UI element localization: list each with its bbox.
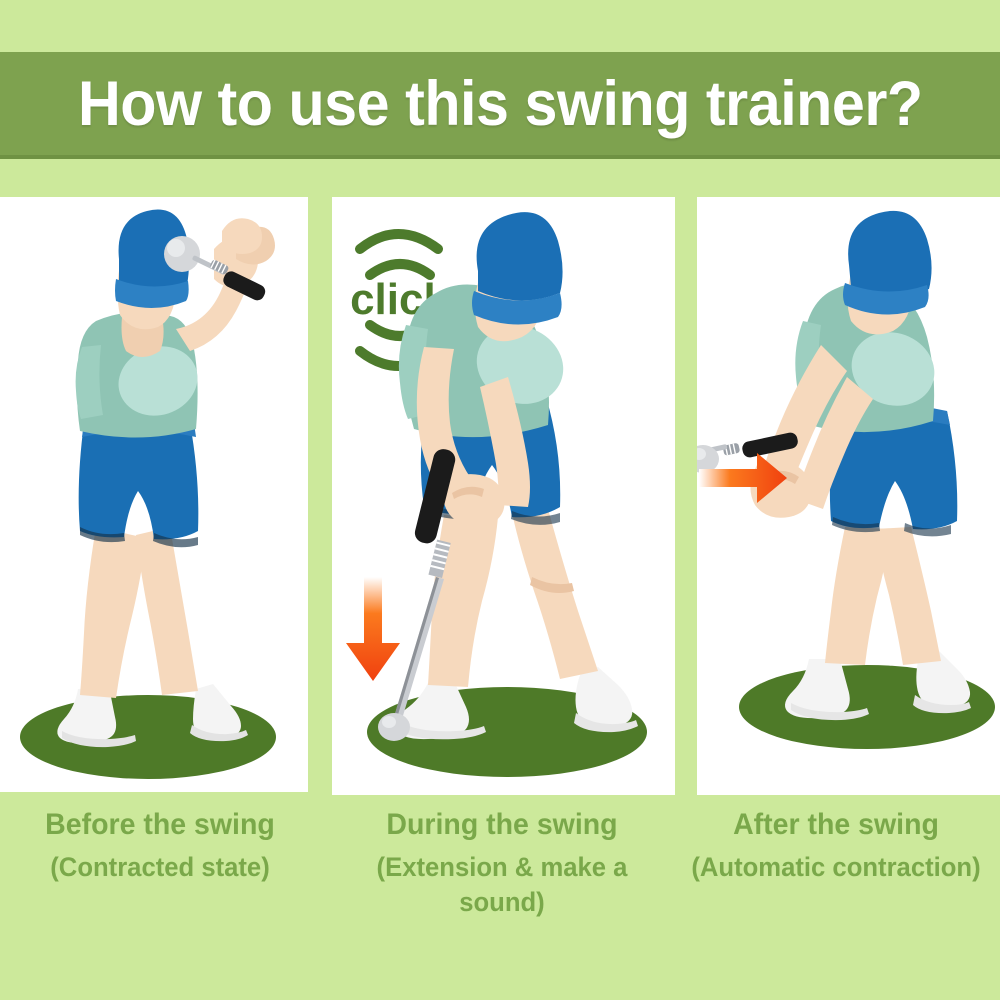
illustration-after-swing (697, 197, 1000, 795)
caption-after: After the swing (Automatic contraction) (672, 805, 1000, 885)
caption-during-subtitle: (Extension & make a sound) (331, 850, 673, 921)
cap (477, 212, 563, 300)
panel-after (697, 197, 1000, 795)
panel-during: click (332, 197, 675, 795)
infographic-root: How to use this swing trainer? (0, 0, 1000, 1000)
caption-after-subtitle: (Automatic contraction) (680, 850, 992, 886)
cap (848, 211, 931, 296)
captions-row: Before the swing (Contracted state) Duri… (0, 805, 1000, 915)
caption-during: During the swing (Extension & make a sou… (322, 805, 682, 921)
caption-before: Before the swing (Contracted state) (0, 805, 320, 885)
panel-before (0, 197, 308, 792)
caption-before-subtitle: (Contracted state) (8, 850, 312, 886)
page-title: How to use this swing trainer? (78, 68, 923, 140)
caption-before-title: Before the swing (8, 805, 312, 845)
header-banner: How to use this swing trainer? (0, 52, 1000, 159)
illustration-before-swing (0, 197, 308, 792)
trainer-ball-head (378, 713, 410, 741)
caption-after-title: After the swing (680, 805, 992, 845)
panels-row: click (0, 197, 1000, 797)
illustration-during-swing: click (332, 197, 675, 795)
caption-during-title: During the swing (331, 805, 673, 845)
